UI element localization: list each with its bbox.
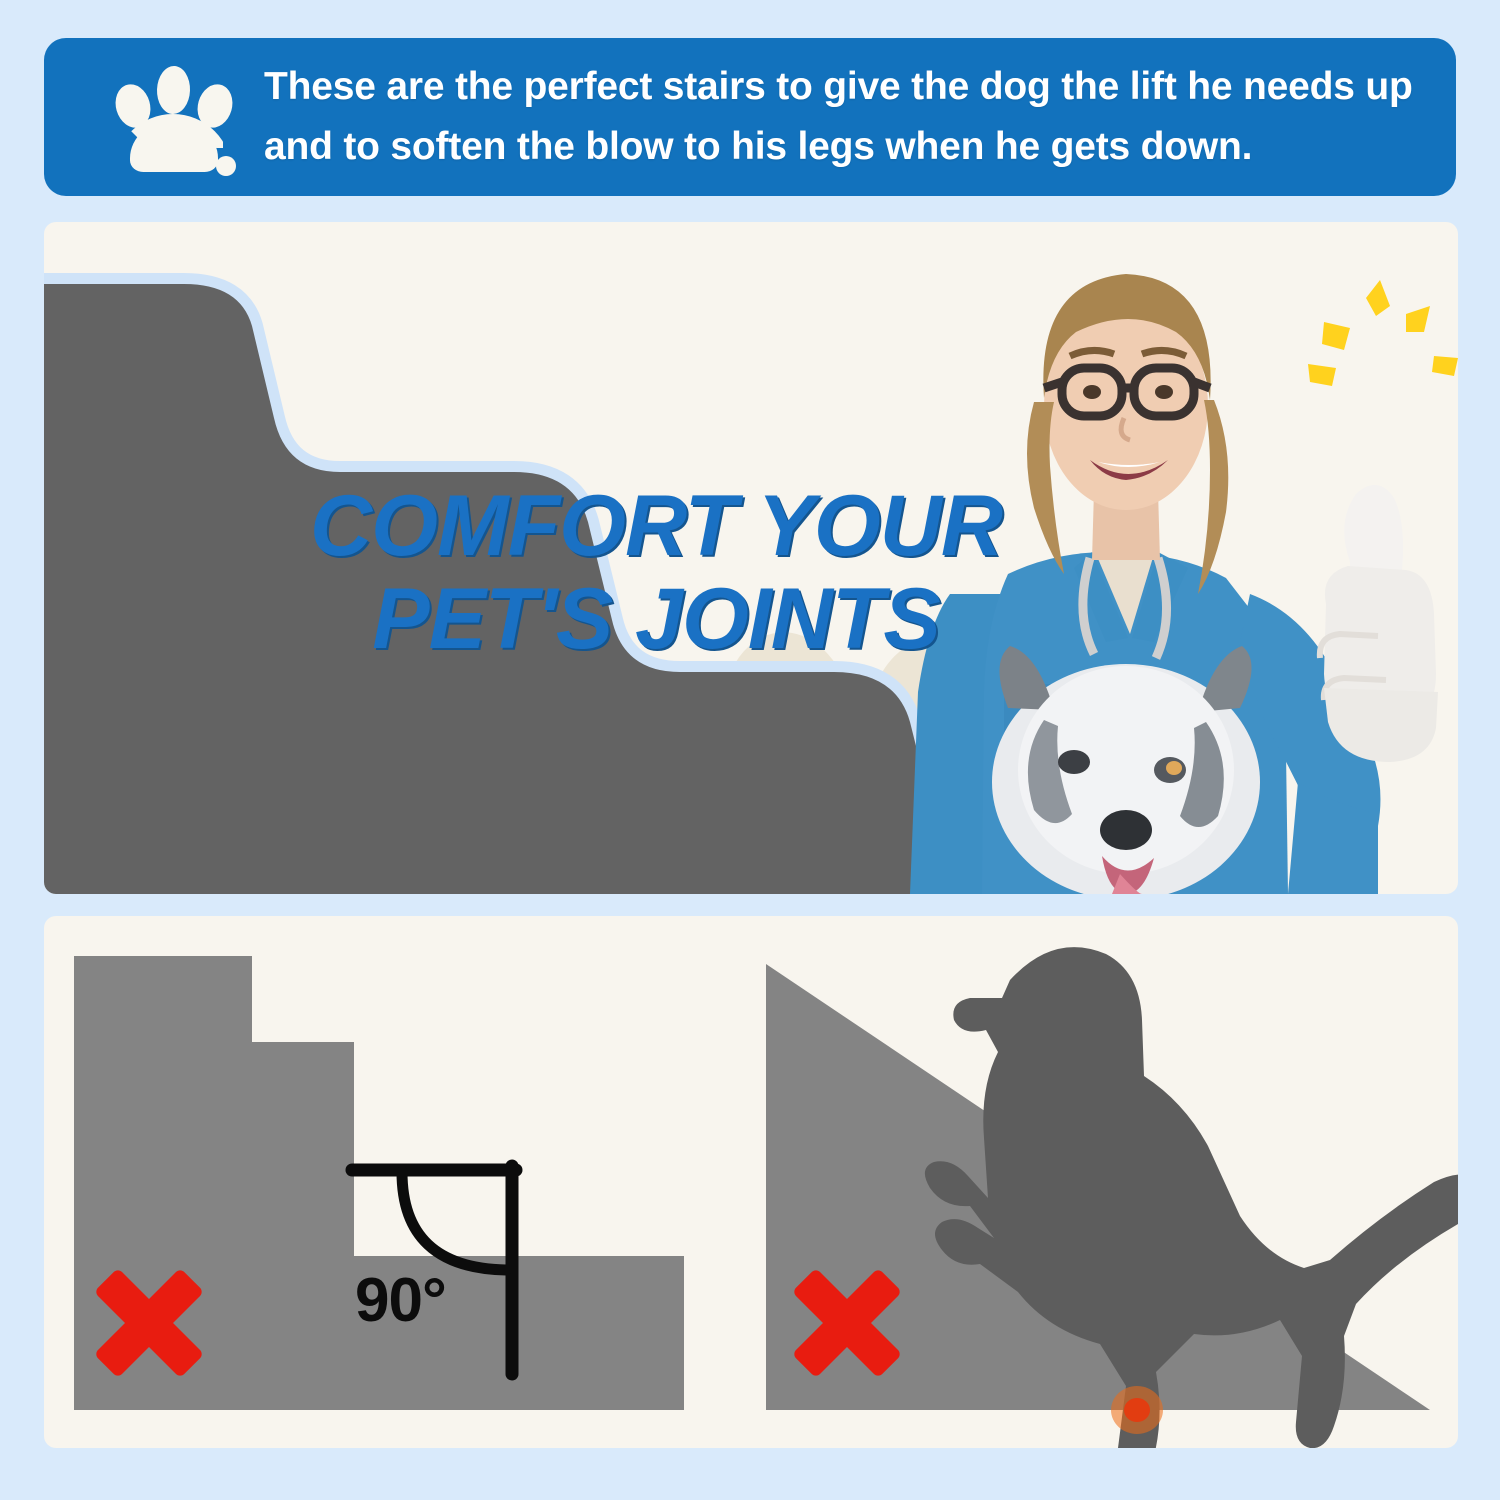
gloved-thumbs-up-hand bbox=[1320, 485, 1438, 762]
steep-square-stairs-illustration bbox=[74, 956, 684, 1410]
australian-shepherd-puppy bbox=[992, 646, 1260, 894]
comparison-panel bbox=[44, 916, 1458, 1448]
paw-print-icon bbox=[114, 58, 236, 176]
comparison-illustrations bbox=[44, 916, 1458, 1448]
hero-panel: COMFORT YOUR PET'S JOINTS bbox=[44, 222, 1458, 894]
banner-text: These are the perfect stairs to give the… bbox=[264, 57, 1413, 178]
joint-pain-highlight bbox=[1111, 1386, 1163, 1434]
banner-text-line-1: These are the perfect stairs to give the… bbox=[264, 57, 1413, 117]
page-title: COMFORT YOUR PET'S JOINTS bbox=[276, 480, 1036, 666]
infographic-page: These are the perfect stairs to give the… bbox=[0, 0, 1500, 1500]
sparkle-icon bbox=[1308, 280, 1458, 386]
dog-climbing-steep-ramp-illustration bbox=[766, 947, 1458, 1448]
page-title-line-2: PET'S JOINTS bbox=[276, 573, 1036, 666]
angle-label: 90° bbox=[355, 1265, 446, 1336]
banner-text-line-2: and to soften the blow to his legs when … bbox=[264, 117, 1413, 177]
header-banner: These are the perfect stairs to give the… bbox=[44, 38, 1456, 196]
page-title-line-1: COMFORT YOUR bbox=[276, 480, 1036, 573]
